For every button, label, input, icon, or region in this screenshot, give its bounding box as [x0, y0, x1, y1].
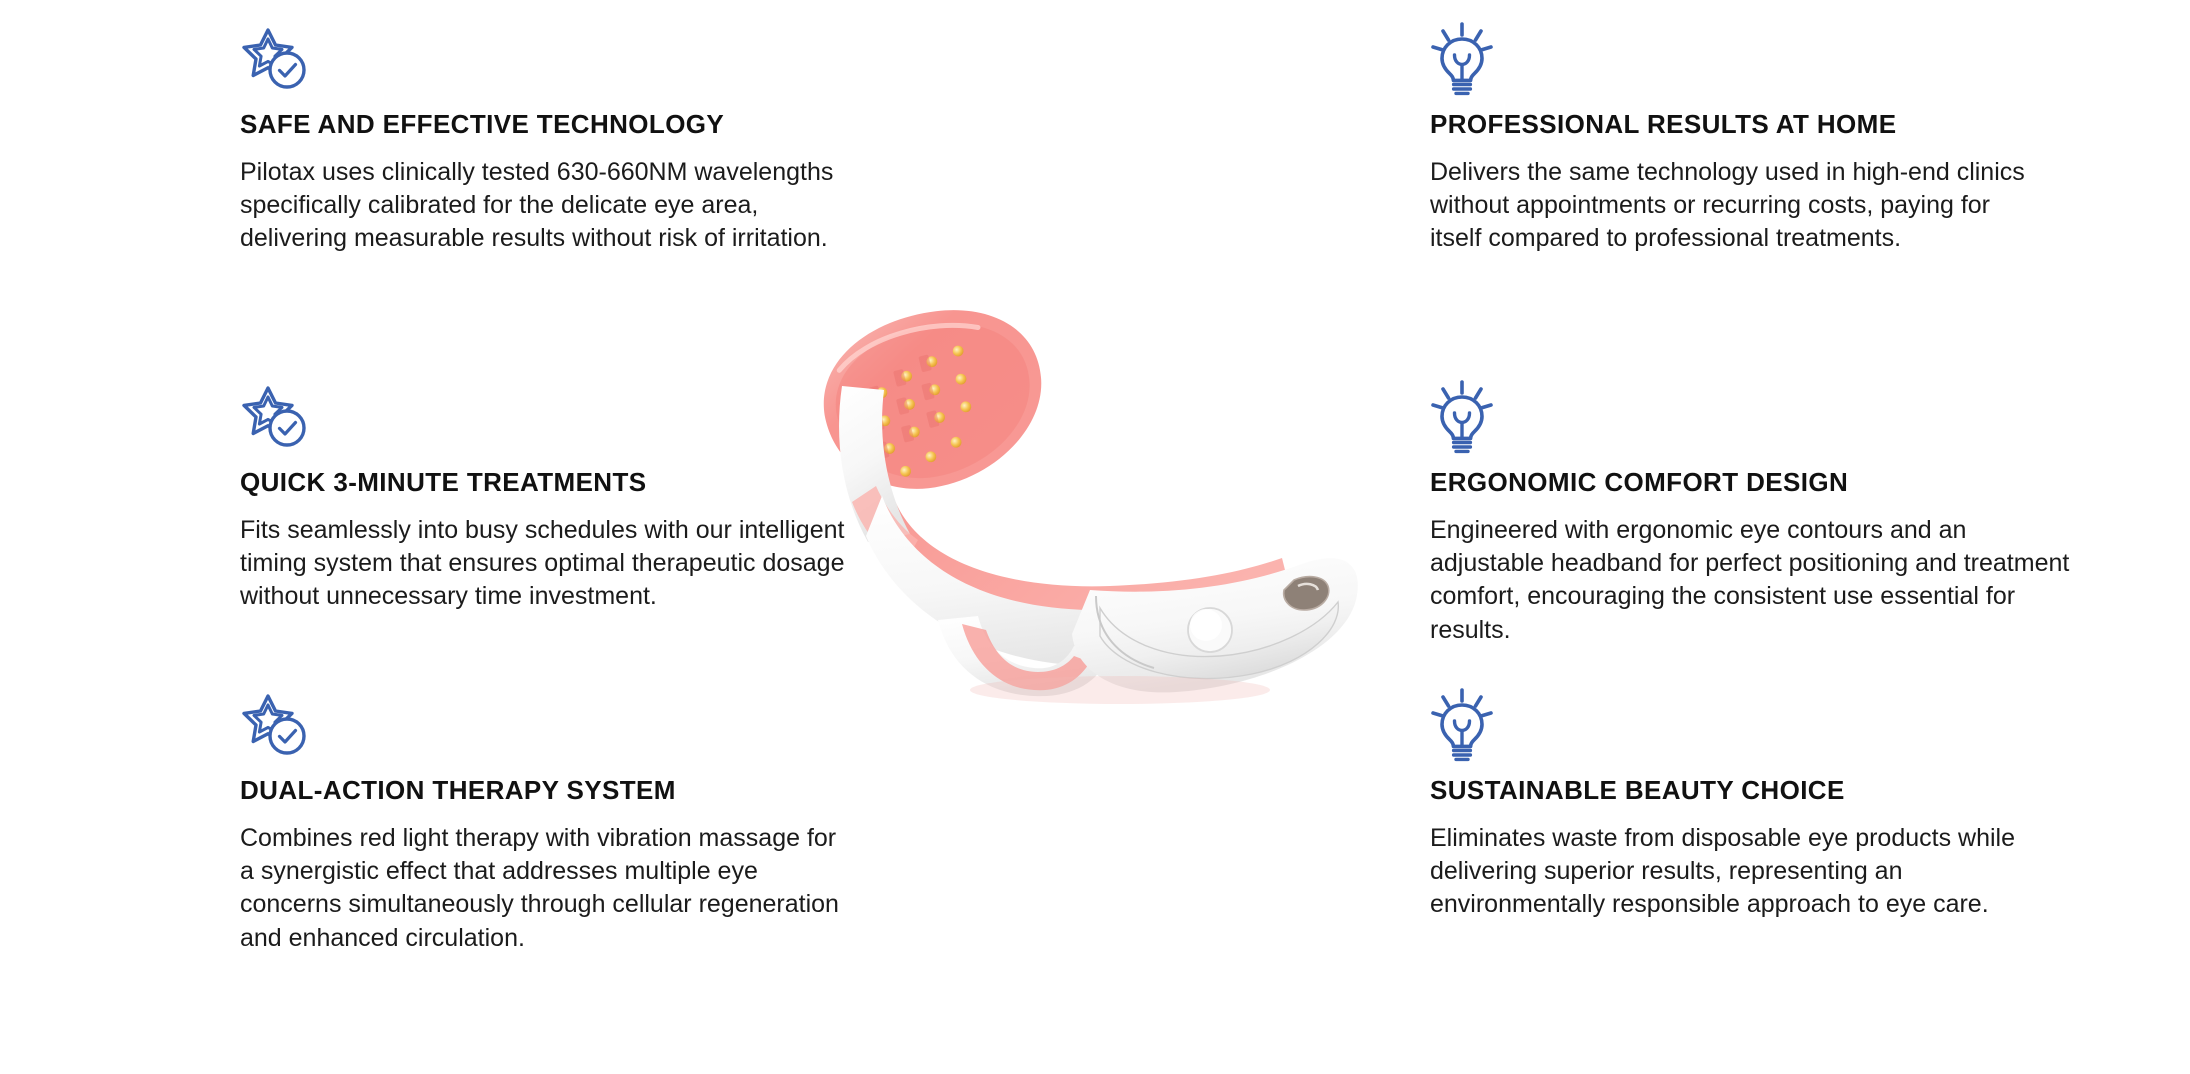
feature-sustainable-beauty-choice: SUSTAINABLE BEAUTY CHOICE Eliminates was…	[1430, 688, 2090, 922]
feature-title: PROFESSIONAL RESULTS AT HOME	[1430, 110, 2090, 140]
feature-body: Delivers the same technology used in hig…	[1430, 156, 2030, 256]
feature-body: Combines red light therapy with vibratio…	[240, 822, 840, 955]
star-check-icon	[240, 22, 900, 100]
lightbulb-icon	[1430, 380, 2090, 458]
feature-body: Engineered with ergonomic eye contours a…	[1430, 514, 2070, 647]
feature-title: SUSTAINABLE BEAUTY CHOICE	[1430, 776, 2090, 806]
lightbulb-icon	[1430, 22, 2090, 100]
feature-body: Eliminates waste from disposable eye pro…	[1430, 822, 2070, 922]
feature-body: Pilotax uses clinically tested 630-660NM…	[240, 156, 840, 256]
feature-professional-results-at-home: PROFESSIONAL RESULTS AT HOME Delivers th…	[1430, 22, 2090, 256]
feature-ergonomic-comfort-design: ERGONOMIC COMFORT DESIGN Engineered with…	[1430, 380, 2090, 647]
feature-safe-and-effective-technology: SAFE AND EFFECTIVE TECHNOLOGY Pilotax us…	[240, 22, 900, 256]
feature-title: DUAL-ACTION THERAPY SYSTEM	[240, 776, 900, 806]
product-image-red-light-eye-mask	[790, 290, 1390, 730]
feature-body: Fits seamlessly into busy schedules with…	[240, 514, 880, 614]
feature-title: SAFE AND EFFECTIVE TECHNOLOGY	[240, 110, 900, 140]
feature-title: ERGONOMIC COMFORT DESIGN	[1430, 468, 2090, 498]
feature-grid-page: SAFE AND EFFECTIVE TECHNOLOGY Pilotax us…	[0, 0, 2190, 1074]
lightbulb-icon	[1430, 688, 2090, 766]
